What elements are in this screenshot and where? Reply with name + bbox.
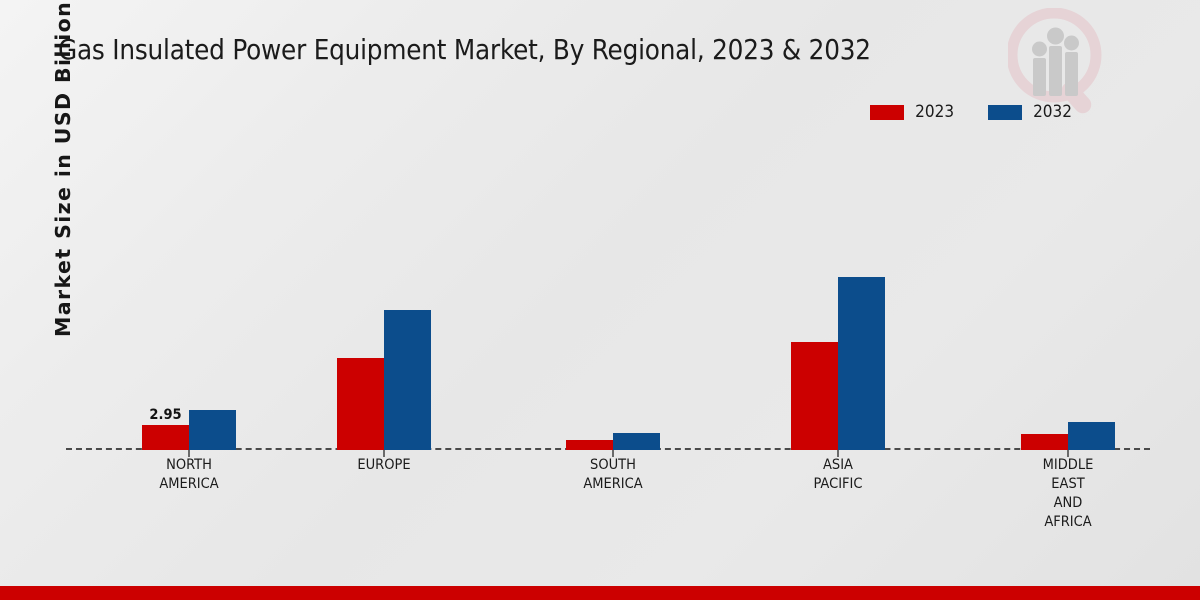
bar-2032-south-america[interactable] [613, 433, 660, 450]
category-label-line: MIDDLE [988, 456, 1148, 475]
bar-2023-middle-east-and-africa[interactable] [1021, 434, 1068, 450]
legend-swatch-2023 [870, 105, 904, 120]
category-label-line: ASIA [758, 456, 918, 475]
legend-label-2032: 2032 [1033, 104, 1072, 121]
category-label-north-america: NORTH AMERICA [109, 456, 269, 494]
chart-title: Gas Insulated Power Equipment Market, By… [58, 34, 1118, 66]
category-label-line: SOUTH [533, 456, 693, 475]
category-label-line: EAST [988, 475, 1148, 494]
bar-2023-asia-pacific[interactable] [791, 342, 838, 450]
chart-legend: 2023 2032 [870, 104, 1072, 121]
bar-2032-europe[interactable] [384, 310, 431, 450]
category-label-line: AND [988, 494, 1148, 513]
legend-label-2023: 2023 [915, 104, 954, 121]
chart-figure: Gas Insulated Power Equipment Market, By… [0, 0, 1200, 600]
bar-2032-north-america[interactable] [189, 410, 236, 450]
category-label-south-america: SOUTH AMERICA [533, 456, 693, 494]
bar-value-label-north-america-2023: 2.95 [141, 407, 190, 423]
bar-2023-europe[interactable] [337, 358, 384, 450]
category-label-line: AFRICA [988, 513, 1148, 532]
legend-entry-2032[interactable]: 2032 [988, 104, 1072, 121]
bottom-accent-band [0, 586, 1200, 600]
plot-area: 2.95 NORTH AMERICA EUROPE SOUTH AMERICA [0, 150, 1200, 450]
category-label-line: NORTH [109, 456, 269, 475]
bar-2032-asia-pacific[interactable] [838, 277, 885, 450]
category-label-middle-east-and-africa: MIDDLE EAST AND AFRICA [988, 456, 1148, 532]
legend-swatch-2032 [988, 105, 1022, 120]
category-label-line: AMERICA [109, 475, 269, 494]
legend-entry-2023[interactable]: 2023 [870, 104, 954, 121]
category-label-line: PACIFIC [758, 475, 918, 494]
bar-2023-north-america[interactable] [142, 425, 189, 450]
category-label-line: EUROPE [304, 456, 464, 475]
bar-2032-middle-east-and-africa[interactable] [1068, 422, 1115, 450]
category-label-europe: EUROPE [304, 456, 464, 475]
bar-2023-south-america[interactable] [566, 440, 613, 450]
category-label-asia-pacific: ASIA PACIFIC [758, 456, 918, 494]
category-label-line: AMERICA [533, 475, 693, 494]
